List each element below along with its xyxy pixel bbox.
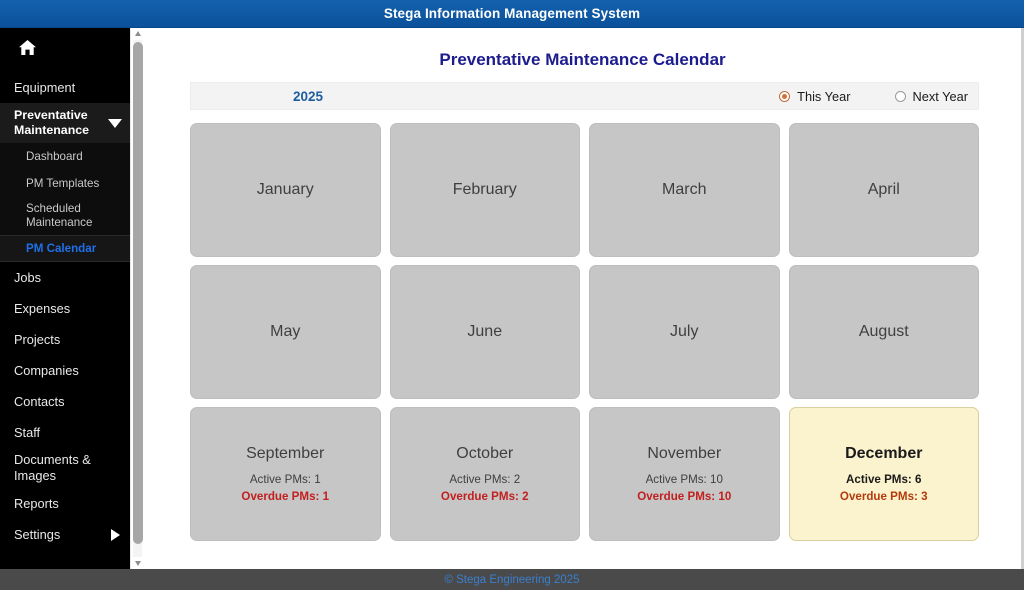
sidebar-item-label: Reports: [14, 496, 59, 511]
sidebar-item-preventative-maintenance[interactable]: Preventative Maintenance: [0, 103, 130, 143]
sidebar-item-label: PM Templates: [26, 177, 99, 190]
overdue-pms-count: Overdue PMs: 10: [637, 490, 731, 503]
month-card-march[interactable]: March: [589, 123, 780, 257]
year-selector-bar: 2025 This Year Next Year: [190, 82, 979, 110]
radio-this-year[interactable]: This Year: [779, 89, 850, 104]
sidebar-item-label: PM Calendar: [26, 242, 96, 255]
sidebar-item-home[interactable]: [0, 28, 130, 72]
scroll-down-arrow-icon[interactable]: [135, 561, 141, 566]
sidebar-item-label: Staff: [14, 425, 40, 440]
sidebar-submenu-preventative-maintenance: Dashboard PM Templates Scheduled Mainten…: [0, 143, 130, 262]
month-card-october[interactable]: October Active PMs: 2 Overdue PMs: 2: [390, 407, 581, 541]
month-name: September: [246, 445, 324, 463]
sidebar-item-equipment[interactable]: Equipment: [0, 72, 130, 103]
overdue-pms-count: Overdue PMs: 2: [441, 490, 529, 503]
active-pms-count: Active PMs: 6: [846, 473, 921, 486]
sidebar-item-reports[interactable]: Reports: [0, 488, 130, 519]
year-label: 2025: [293, 89, 323, 104]
copyright-text: © Stega Engineering 2025: [444, 574, 579, 586]
sidebar-scrollbar[interactable]: [130, 28, 144, 569]
active-pms-count: Active PMs: 1: [250, 473, 321, 486]
sidebar-item-label: Projects: [14, 332, 60, 347]
app-title: Stega Information Management System: [384, 6, 640, 21]
sidebar-item-label: Preventative Maintenance: [14, 108, 102, 139]
month-name: February: [453, 181, 517, 199]
application-window: Stega Information Management System Equi…: [0, 0, 1024, 590]
month-name: August: [859, 323, 909, 341]
title-bar: Stega Information Management System: [0, 0, 1024, 28]
chevron-down-icon: [108, 119, 122, 128]
month-grid: January February March April May June Ju…: [190, 123, 979, 541]
sidebar-item-label: Equipment: [14, 80, 75, 95]
month-name: March: [662, 181, 706, 199]
sidebar-item-label: Expenses: [14, 301, 70, 316]
month-card-august[interactable]: August: [789, 265, 980, 399]
sidebar-item-documents-images[interactable]: Documents & Images: [0, 448, 130, 488]
main-content: Preventative Maintenance Calendar 2025 T…: [144, 28, 1022, 569]
month-card-january[interactable]: January: [190, 123, 381, 257]
overdue-pms-count: Overdue PMs: 1: [241, 490, 329, 503]
sidebar-item-label: Jobs: [14, 270, 41, 285]
month-card-may[interactable]: May: [190, 265, 381, 399]
sidebar-item-pm-templates[interactable]: PM Templates: [0, 170, 130, 197]
sidebar-item-contacts[interactable]: Contacts: [0, 386, 130, 417]
radio-label: Next Year: [913, 89, 969, 104]
scrollbar-thumb[interactable]: [133, 42, 143, 544]
sidebar-item-pm-calendar[interactable]: PM Calendar: [0, 235, 130, 262]
month-card-june[interactable]: June: [390, 265, 581, 399]
month-card-september[interactable]: September Active PMs: 1 Overdue PMs: 1: [190, 407, 381, 541]
sidebar-item-expenses[interactable]: Expenses: [0, 293, 130, 324]
month-name: November: [647, 445, 721, 463]
footer-bar: © Stega Engineering 2025: [0, 569, 1024, 590]
sidebar-item-staff[interactable]: Staff: [0, 417, 130, 448]
active-pms-count: Active PMs: 10: [646, 473, 723, 486]
month-name: May: [270, 323, 300, 341]
home-icon: [18, 39, 37, 61]
month-name: July: [670, 323, 698, 341]
radio-selected-icon[interactable]: [779, 91, 790, 102]
chevron-right-icon: [111, 529, 120, 541]
sidebar-item-label: Settings: [14, 527, 60, 542]
month-card-december[interactable]: December Active PMs: 6 Overdue PMs: 3: [789, 407, 980, 541]
radio-next-year[interactable]: Next Year: [895, 89, 969, 104]
month-card-july[interactable]: July: [589, 265, 780, 399]
radio-label: This Year: [797, 89, 850, 104]
month-name: January: [257, 181, 314, 199]
sidebar-item-label: Documents & Images: [14, 452, 120, 484]
overdue-pms-count: Overdue PMs: 3: [840, 490, 928, 503]
sidebar-item-label: Scheduled Maintenance: [26, 202, 122, 230]
sidebar-item-dashboard[interactable]: Dashboard: [0, 143, 130, 170]
month-name: April: [868, 181, 900, 199]
page-title: Preventative Maintenance Calendar: [144, 50, 1021, 70]
month-card-november[interactable]: November Active PMs: 10 Overdue PMs: 10: [589, 407, 780, 541]
sidebar-item-companies[interactable]: Companies: [0, 355, 130, 386]
active-pms-count: Active PMs: 2: [449, 473, 520, 486]
month-card-april[interactable]: April: [789, 123, 980, 257]
month-name: October: [456, 445, 513, 463]
sidebar-item-scheduled-maintenance[interactable]: Scheduled Maintenance: [0, 197, 130, 235]
month-card-february[interactable]: February: [390, 123, 581, 257]
sidebar-item-label: Dashboard: [26, 150, 83, 163]
month-name: June: [467, 323, 502, 341]
sidebar-navigation: Equipment Preventative Maintenance Dashb…: [0, 28, 130, 569]
sidebar-item-jobs[interactable]: Jobs: [0, 262, 130, 293]
sidebar-item-label: Contacts: [14, 394, 65, 409]
sidebar-item-label: Companies: [14, 363, 79, 378]
sidebar-item-settings[interactable]: Settings: [0, 519, 130, 550]
sidebar-item-projects[interactable]: Projects: [0, 324, 130, 355]
year-radio-group: This Year Next Year: [779, 89, 968, 104]
radio-unselected-icon[interactable]: [895, 91, 906, 102]
month-name: December: [845, 445, 922, 463]
scroll-up-arrow-icon[interactable]: [135, 31, 141, 36]
